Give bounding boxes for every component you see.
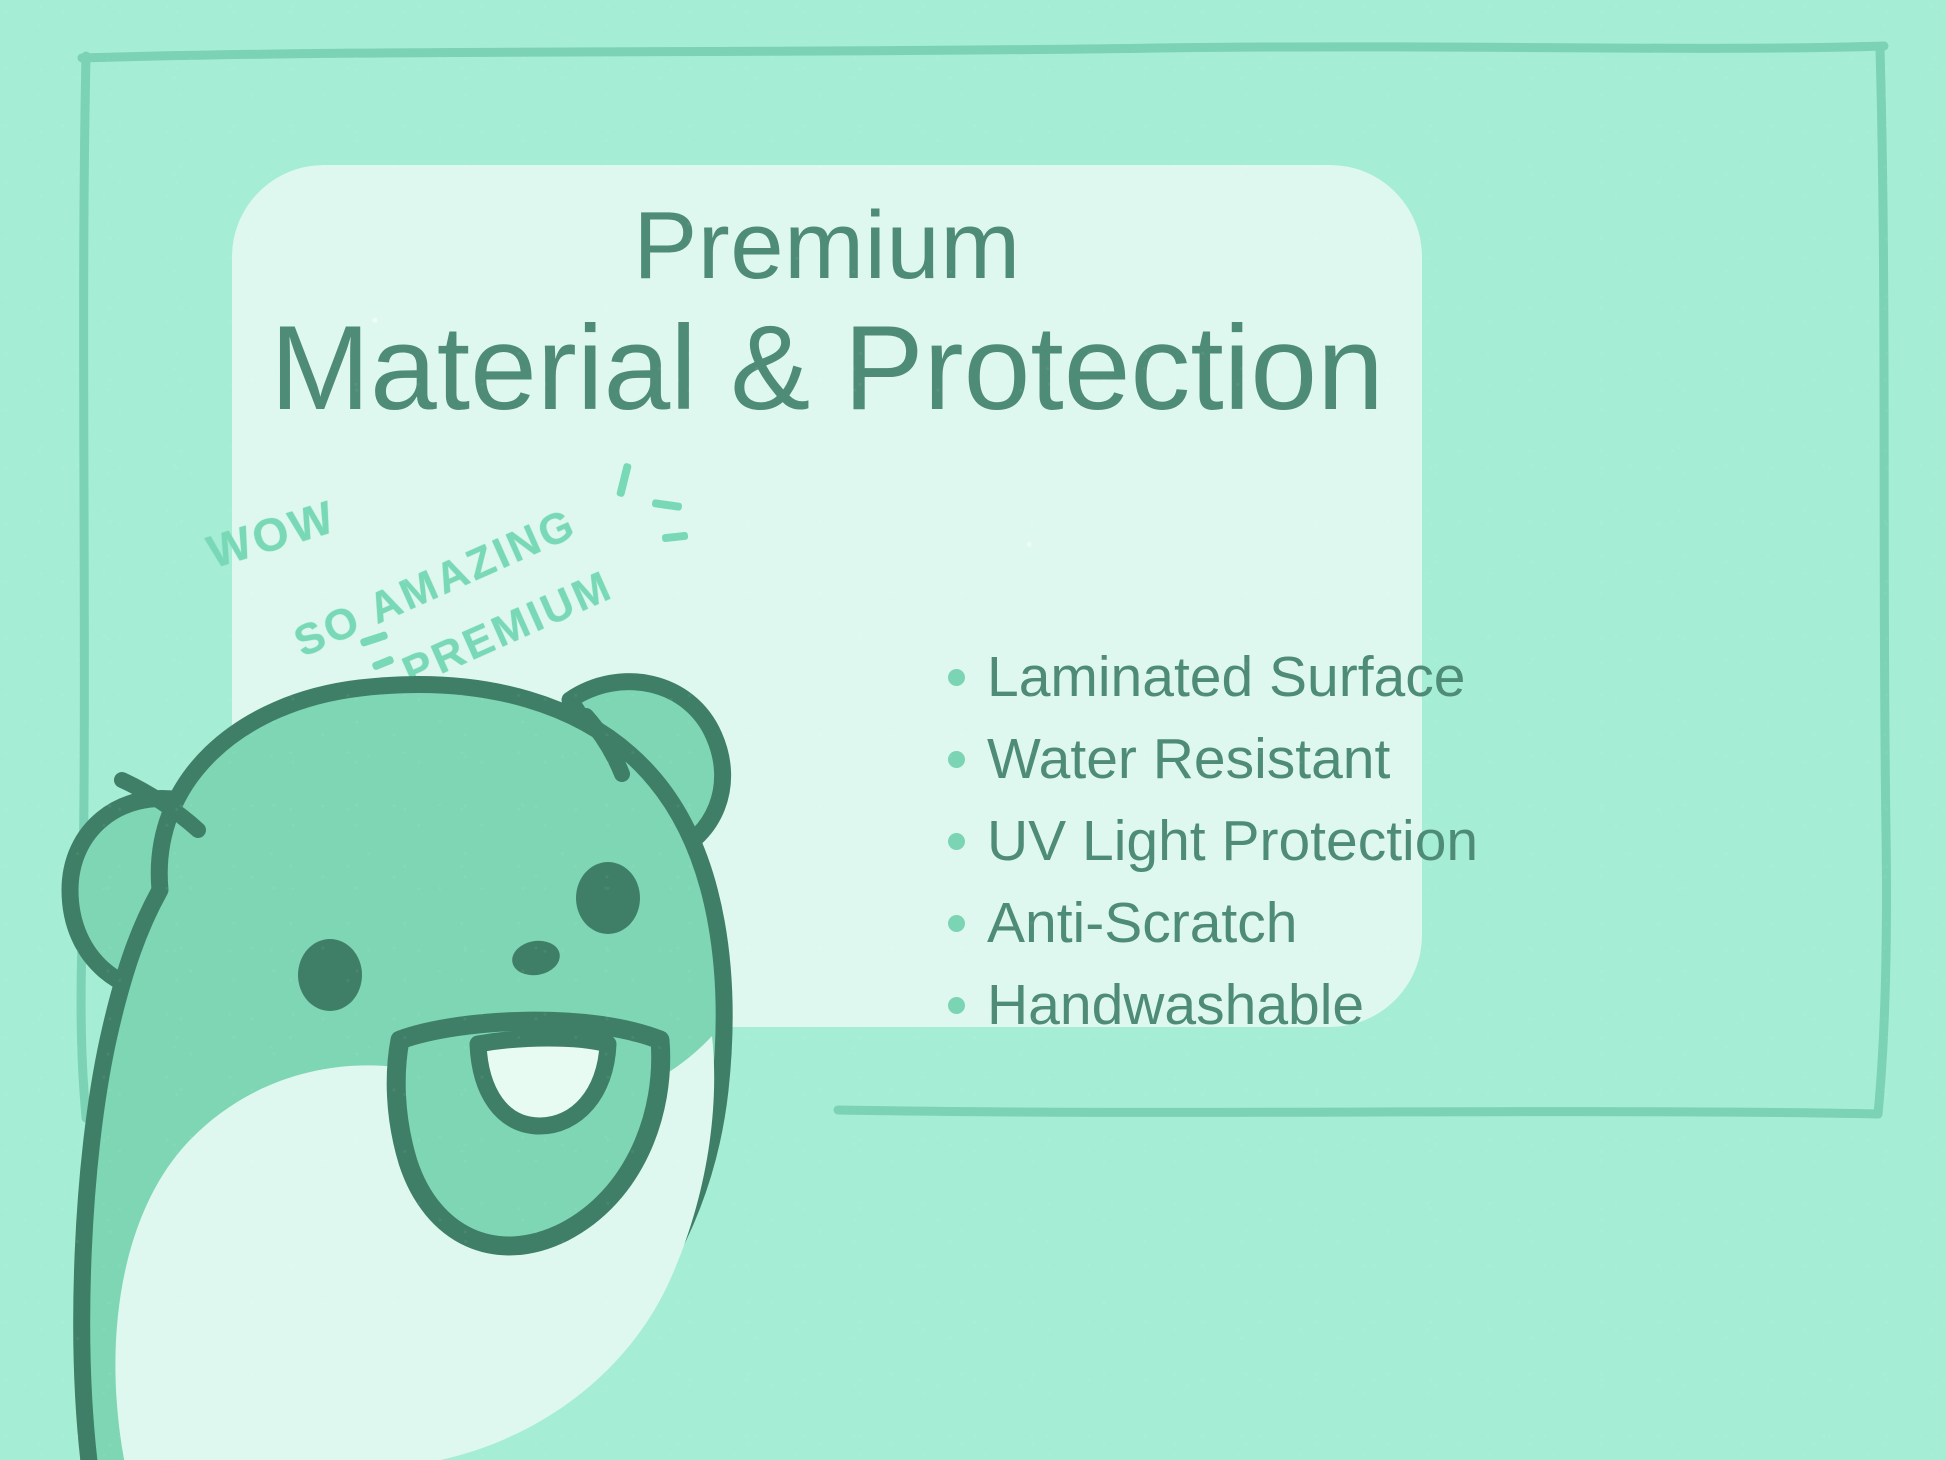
list-item: Anti-Scratch [948, 886, 1588, 960]
list-item: Handwashable [948, 968, 1588, 1042]
page-title: Premium Material & Protection [232, 196, 1422, 431]
feature-label: Laminated Surface [987, 649, 1465, 706]
feature-label: Handwashable [987, 977, 1364, 1034]
list-item: Laminated Surface [948, 640, 1588, 714]
bullet-dot-icon [948, 997, 965, 1014]
title-line-2: Material & Protection [232, 306, 1422, 431]
bullet-dot-icon [948, 915, 965, 932]
bullet-dot-icon [948, 751, 965, 768]
feature-label: Anti-Scratch [987, 895, 1297, 952]
bullet-dot-icon [948, 669, 965, 686]
poster-canvas: Premium Material & Protection WOW SO AMA… [0, 0, 1946, 1460]
title-line-1: Premium [232, 196, 1422, 296]
feature-list: Laminated Surface Water Resistant UV Lig… [948, 640, 1588, 1050]
list-item: UV Light Protection [948, 804, 1588, 878]
feature-label: UV Light Protection [987, 813, 1478, 870]
bullet-dot-icon [948, 833, 965, 850]
list-item: Water Resistant [948, 722, 1588, 796]
feature-label: Water Resistant [987, 731, 1390, 788]
